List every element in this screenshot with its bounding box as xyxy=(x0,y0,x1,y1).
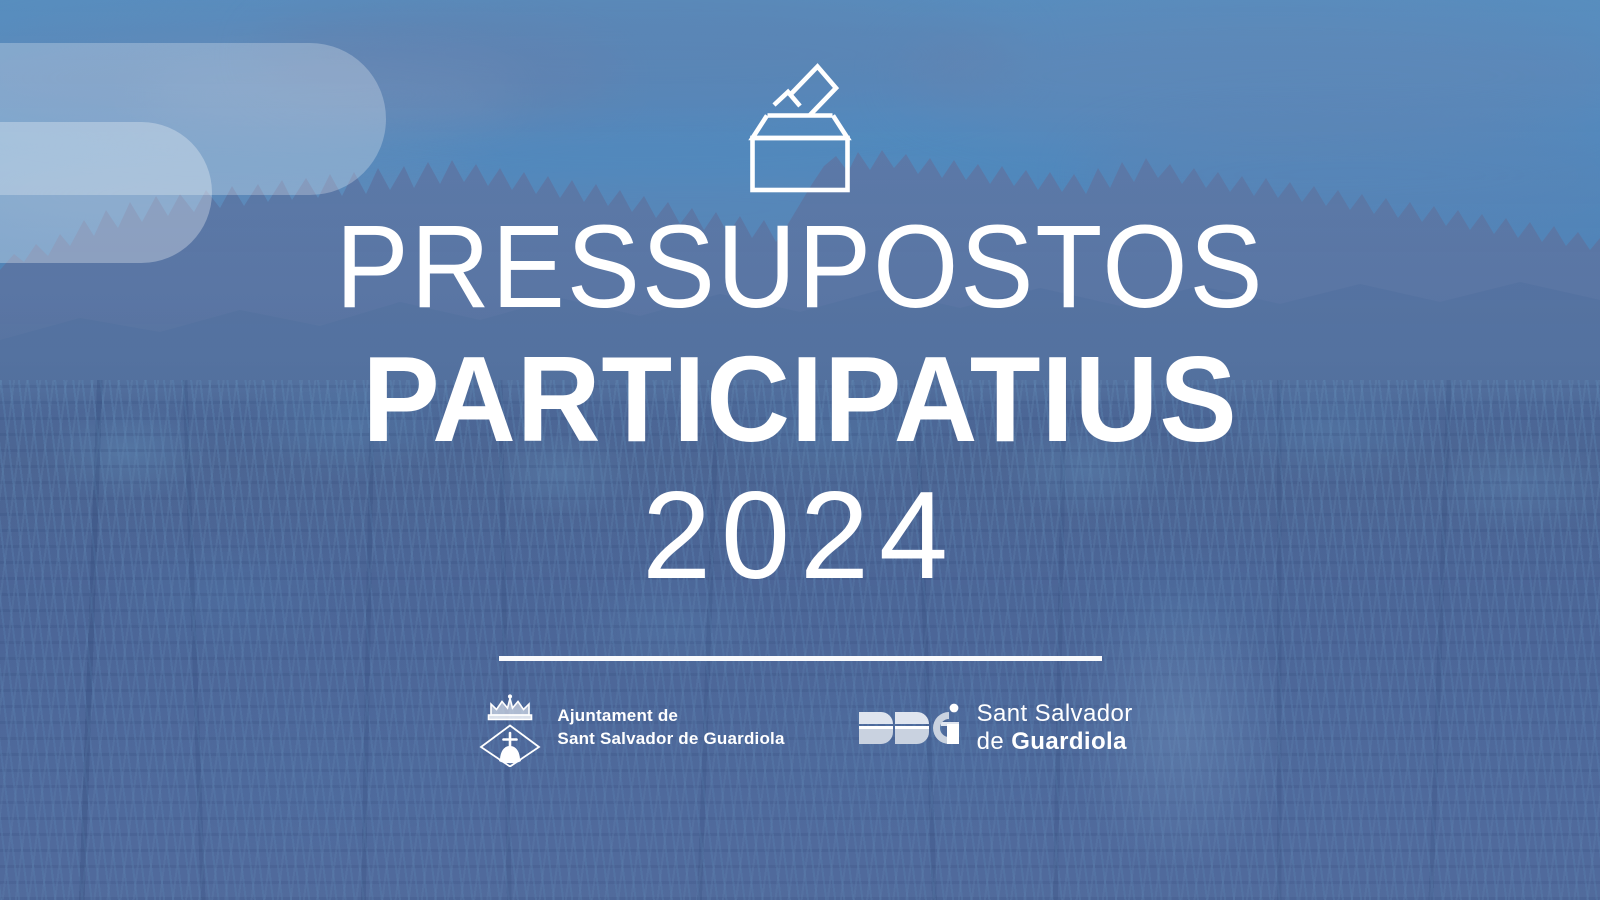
title-block: PRESSUPOSTOS PARTICIPATIUS 2024 xyxy=(0,208,1600,598)
ajuntament-name: Ajuntament de Sant Salvador de Guardiola xyxy=(557,705,784,751)
ssg-line-2: de Guardiola xyxy=(977,728,1133,756)
ssg-monogram-icon xyxy=(855,702,963,754)
municipal-crest-icon xyxy=(477,689,543,767)
ajuntament-line-2: Sant Salvador de Guardiola xyxy=(557,728,784,751)
title-line-1: PRESSUPOSTOS xyxy=(56,208,1544,326)
ssg-line-2-bold: Guardiola xyxy=(1011,728,1127,755)
poster-content: PRESSUPOSTOS PARTICIPATIUS 2024 xyxy=(0,0,1600,900)
ballot-box-icon xyxy=(744,58,856,198)
ssg-line-1: Sant Salvador xyxy=(977,700,1133,728)
title-line-2: PARTICIPATIUS xyxy=(40,338,1560,460)
ssg-line-2-prefix: de xyxy=(977,728,1012,755)
ajuntament-line-1: Ajuntament de xyxy=(557,705,784,728)
ajuntament-logo: Ajuntament de Sant Salvador de Guardiola xyxy=(477,689,784,767)
ssg-logo: Sant Salvador de Guardiola xyxy=(855,700,1133,757)
logos-row: Ajuntament de Sant Salvador de Guardiola xyxy=(0,689,1600,767)
ssg-name: Sant Salvador de Guardiola xyxy=(977,700,1133,757)
poster-canvas: PRESSUPOSTOS PARTICIPATIUS 2024 xyxy=(0,0,1600,900)
horizontal-divider xyxy=(499,656,1102,661)
title-year: 2024 xyxy=(0,474,1600,598)
